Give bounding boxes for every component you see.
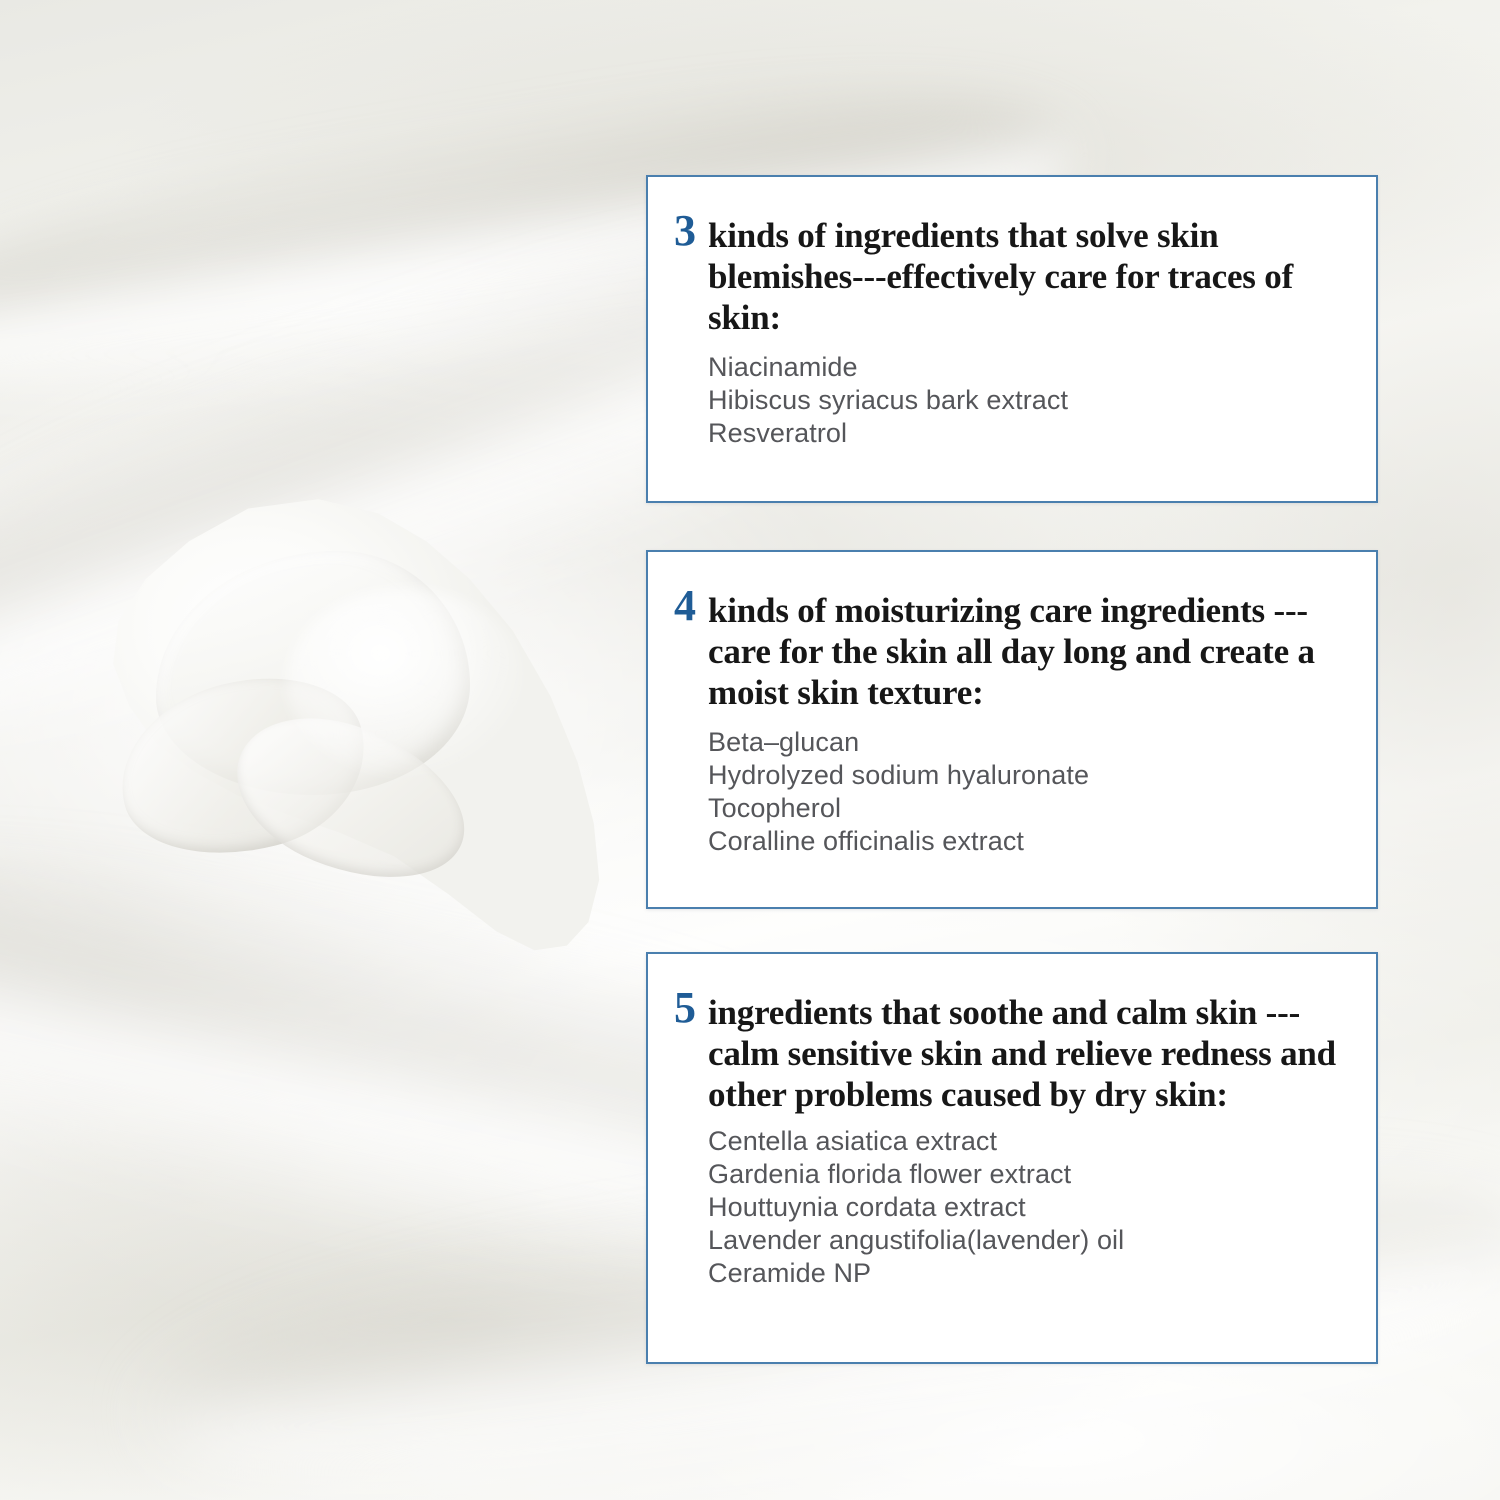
ingredient-card-1: 3kinds of ingredients that solve skin bl… — [646, 175, 1378, 503]
card-2-content: 4kinds of moisturizing care ingredients … — [648, 552, 1376, 858]
cream-swatch-highlight — [286, 588, 524, 776]
list-item: Beta–glucan — [708, 726, 1350, 759]
list-item: Centella asiatica extract — [708, 1125, 1350, 1158]
list-item: Resveratrol — [708, 417, 1350, 450]
list-item: Hibiscus syriacus bark extract — [708, 384, 1350, 417]
list-item: Gardenia florida flower extract — [708, 1158, 1350, 1191]
list-item: Lavender angustifolia(lavender) oil — [708, 1224, 1350, 1257]
card-3-heading: 5ingredients that soothe and calm skin -… — [674, 992, 1350, 1115]
card-3-heading-text: ingredients that soothe and calm skin --… — [708, 993, 1336, 1114]
card-3-numeral: 5 — [674, 986, 696, 1030]
list-item: Tocopherol — [708, 792, 1350, 825]
card-2-heading-text: kinds of moisturizing care ingredients -… — [708, 591, 1315, 712]
card-3-ingredient-list: Centella asiatica extract Gardenia flori… — [674, 1125, 1350, 1290]
card-1-numeral: 3 — [674, 209, 696, 253]
card-1-ingredient-list: Niacinamide Hibiscus syriacus bark extra… — [674, 351, 1350, 450]
cream-swatch — [70, 485, 610, 955]
card-2-ingredient-list: Beta–glucan Hydrolyzed sodium hyaluronat… — [674, 726, 1350, 858]
card-1-heading: 3kinds of ingredients that solve skin bl… — [674, 215, 1350, 338]
ingredient-card-3: 5ingredients that soothe and calm skin -… — [646, 952, 1378, 1364]
list-item: Niacinamide — [708, 351, 1350, 384]
card-1-heading-text: kinds of ingredients that solve skin ble… — [708, 216, 1293, 337]
card-1-content: 3kinds of ingredients that solve skin bl… — [648, 177, 1376, 450]
card-2-numeral: 4 — [674, 584, 696, 628]
list-item: Coralline officinalis extract — [708, 825, 1350, 858]
ingredient-card-2: 4kinds of moisturizing care ingredients … — [646, 550, 1378, 909]
list-item: Ceramide NP — [708, 1257, 1350, 1290]
card-2-heading: 4kinds of moisturizing care ingredients … — [674, 590, 1350, 713]
list-item: Hydrolyzed sodium hyaluronate — [708, 759, 1350, 792]
list-item: Houttuynia cordata extract — [708, 1191, 1350, 1224]
card-3-content: 5ingredients that soothe and calm skin -… — [648, 954, 1376, 1290]
product-ingredient-poster: 3kinds of ingredients that solve skin bl… — [0, 0, 1500, 1500]
